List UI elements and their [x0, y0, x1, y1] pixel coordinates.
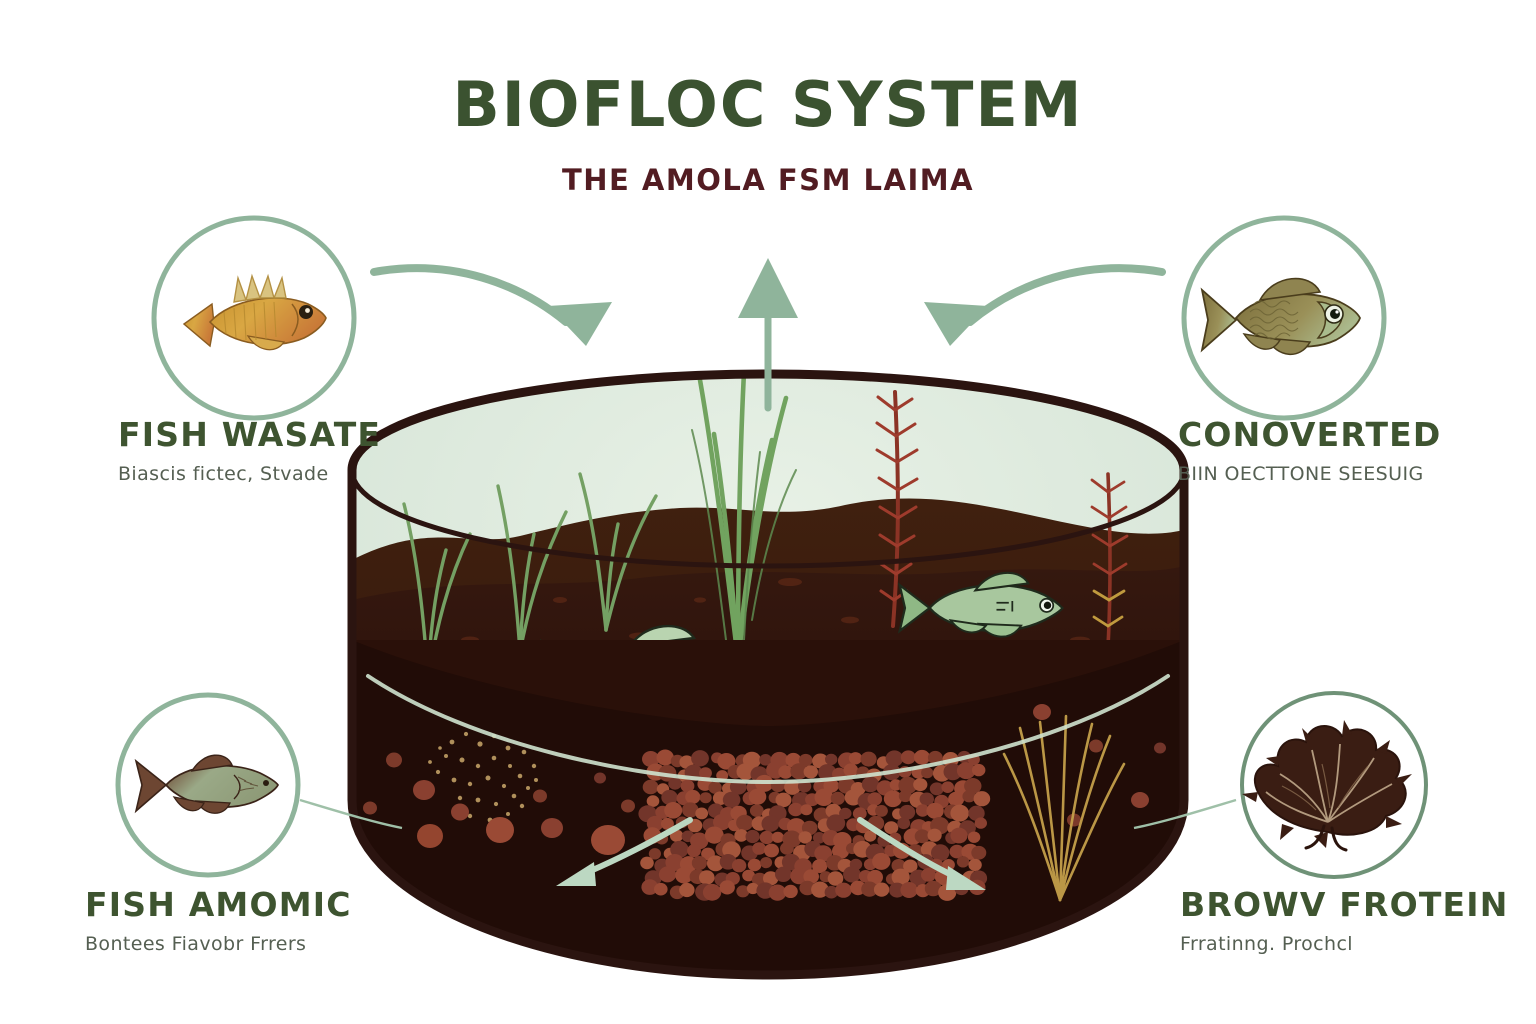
label-brown-protein: BROWV FROTEIN Frratinng. Prochcl: [1180, 885, 1509, 955]
label-subtitle-fish-waste: Biascis fictec, Stvade: [118, 463, 381, 485]
infographic-canvas: BIOFLOC SYSTEM THE AMOLA FSM LAIMA: [0, 0, 1536, 1024]
label-subtitle-fish-amomic: Bontees Fiavobr Frrers: [85, 933, 352, 955]
label-title-fish-amomic: FISH AMOMIC: [85, 885, 352, 924]
node-icon-converted[interactable]: [1184, 218, 1384, 418]
label-title-converted: CONOVERTED: [1178, 415, 1442, 454]
illustration-layer: [0, 0, 1536, 1024]
label-fish-amomic: FISH AMOMIC Bontees Fiavobr Frrers: [85, 885, 352, 955]
biofloc-tank: [352, 372, 1184, 1020]
arrow-converted-to-tank: [924, 268, 1162, 346]
label-fish-waste: FISH WASATE Biascis fictec, Stvade: [118, 415, 381, 485]
label-converted: CONOVERTED BIIN OECTTONE SEESUIG: [1178, 415, 1442, 485]
node-icon-brown-protein[interactable]: [1242, 693, 1426, 877]
label-title-brown-protein: BROWV FROTEIN: [1180, 885, 1509, 924]
node-icon-fish-waste[interactable]: [154, 218, 354, 418]
label-subtitle-brown-protein: Frratinng. Prochcl: [1180, 933, 1509, 955]
label-subtitle-converted: BIIN OECTTONE SEESUIG: [1178, 463, 1442, 485]
biofloc-granules: [638, 750, 990, 901]
arrow-fish-waste-to-tank: [374, 268, 612, 346]
lower-substrate: [352, 640, 1184, 1020]
node-icon-fish-amomic[interactable]: [118, 695, 298, 875]
label-title-fish-waste: FISH WASATE: [118, 415, 381, 454]
